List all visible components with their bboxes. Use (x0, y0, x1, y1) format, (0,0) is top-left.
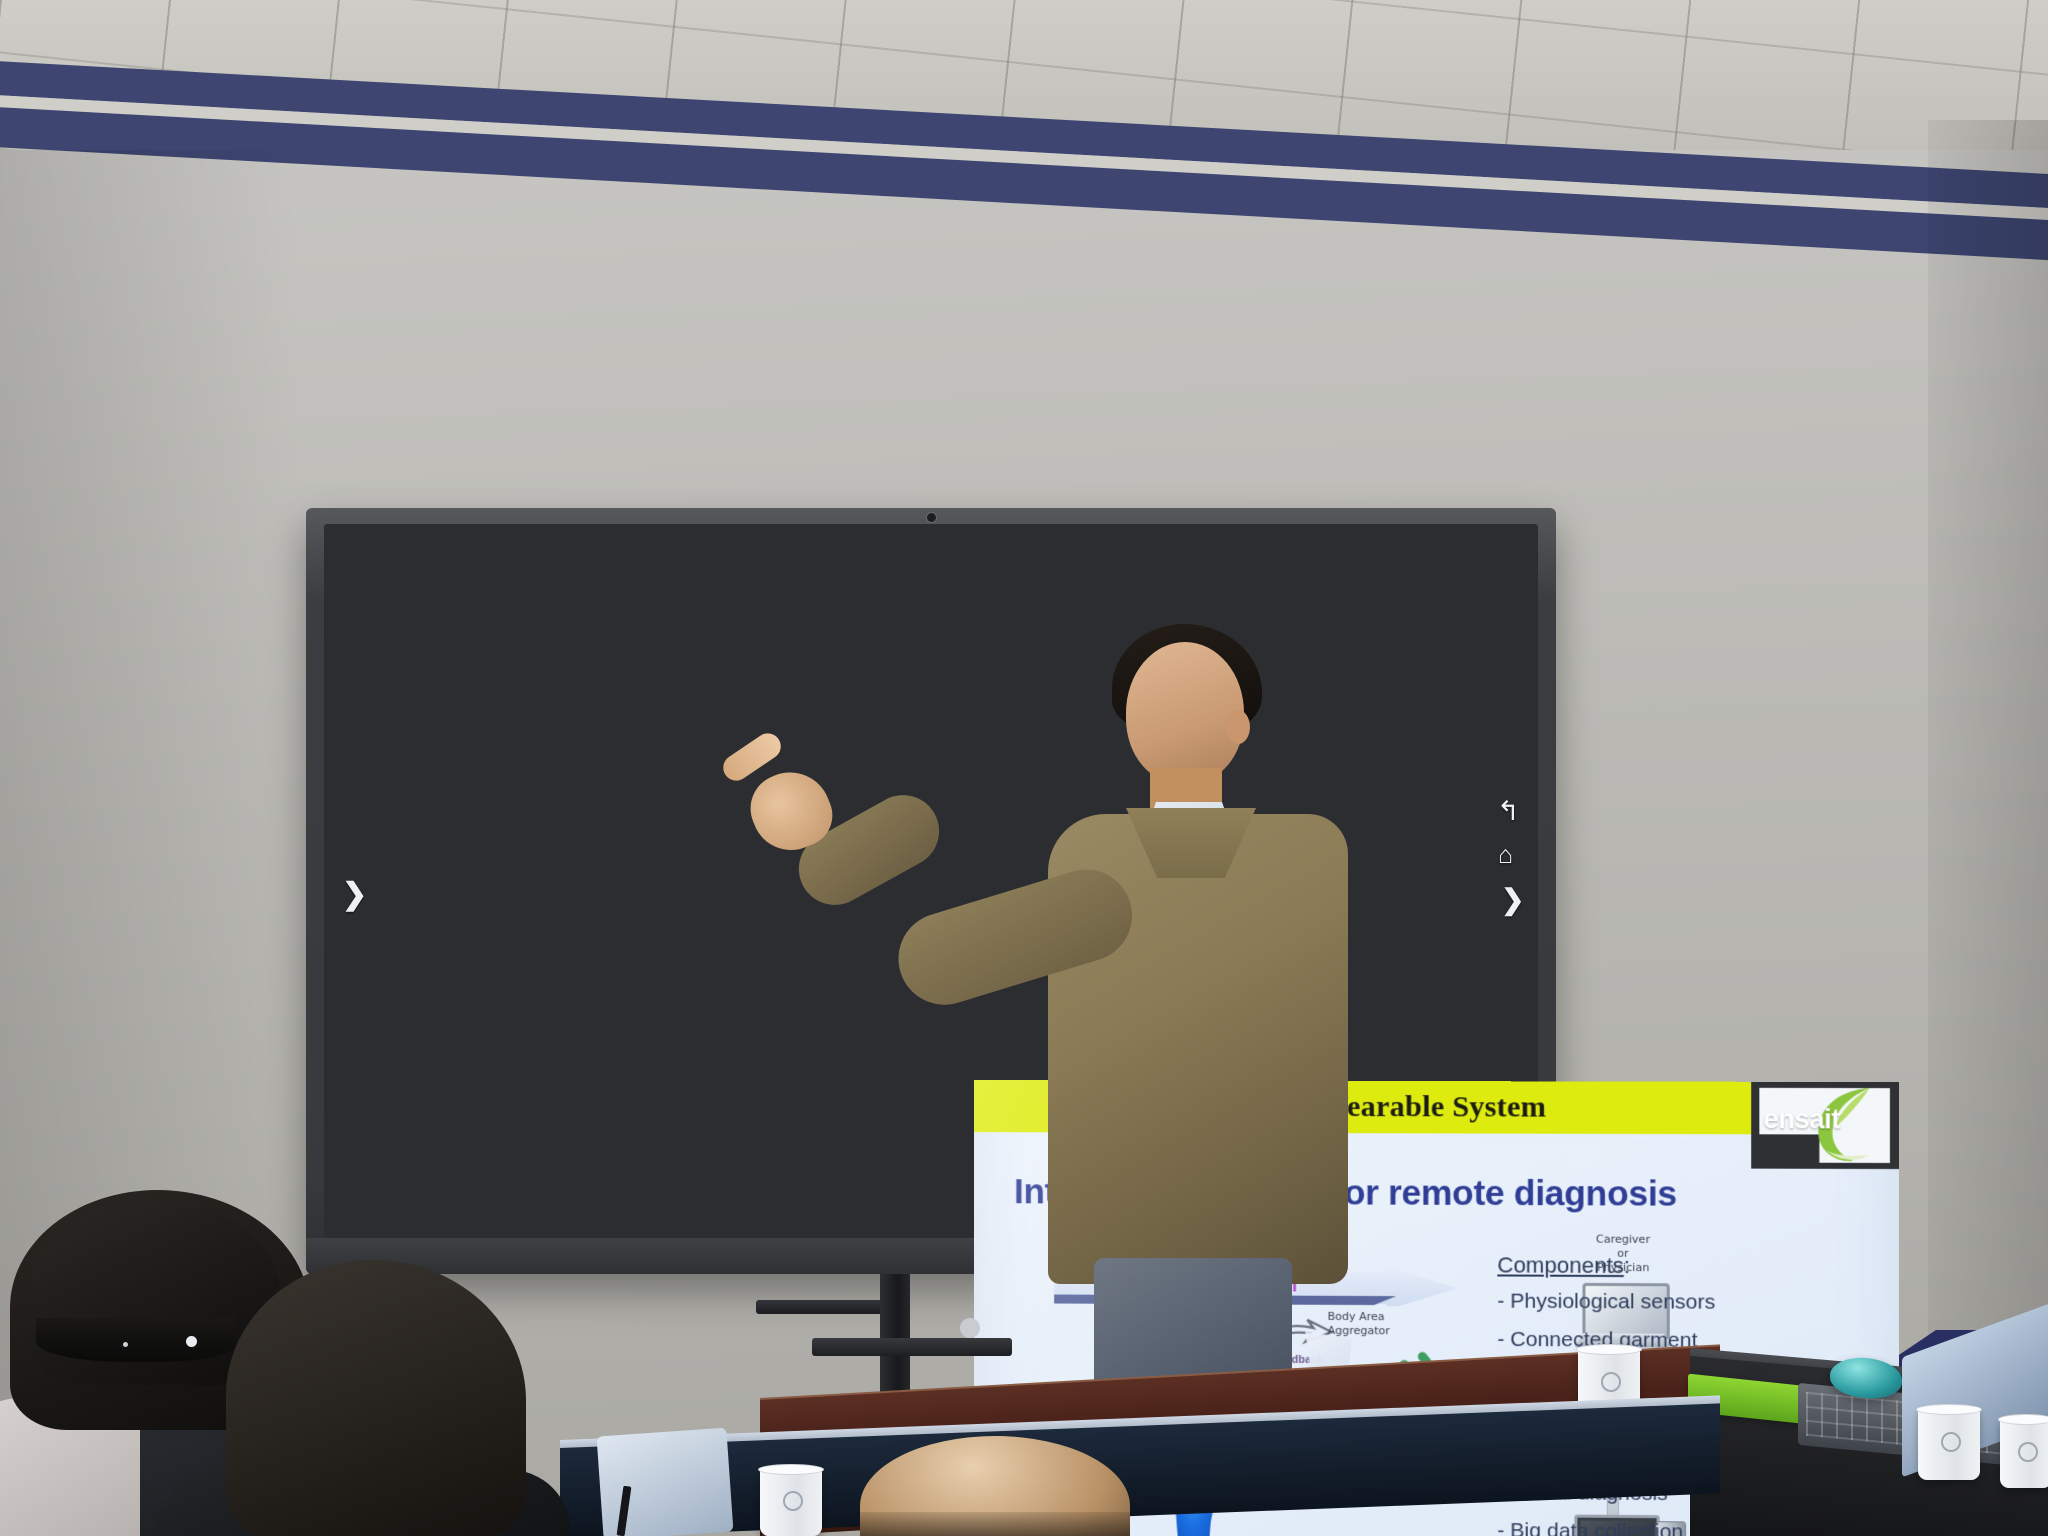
components-heading: Components: (1497, 1254, 1832, 1278)
display-next-icon-left[interactable]: ❯ (342, 880, 367, 910)
ensait-logo: ensait (1751, 1082, 1899, 1169)
display-back-icon[interactable]: ↰ (1497, 798, 1520, 825)
display-camera-icon (927, 513, 936, 522)
components-heading-colon: : (1624, 1253, 1630, 1278)
paper-cup (1918, 1408, 1980, 1480)
presenter-head (1126, 642, 1244, 784)
components-heading-text: Components (1497, 1252, 1623, 1278)
tv-stand-upper-arm (756, 1300, 886, 1314)
display-home-icon[interactable]: ⌂ (1498, 843, 1513, 868)
presenter (1030, 618, 1360, 1418)
screenshot-root: Intelligent Wearable System ensait Intel… (0, 0, 2048, 1536)
audience-member-3-hair (860, 1512, 1130, 1536)
wall-right-edge (1928, 120, 2048, 1420)
list-item: - Physiological sensors (1497, 1291, 1832, 1314)
tv-stand-knob (960, 1318, 980, 1338)
paper-cup (760, 1468, 822, 1536)
tablet-on-desk[interactable] (597, 1428, 734, 1536)
display-next-icon-right[interactable]: ❯ (1501, 886, 1524, 914)
cap-eyelet-icon (186, 1336, 197, 1347)
paper-cup (2000, 1418, 2048, 1488)
logo-text: ensait (1763, 1104, 1840, 1136)
cap-brim (36, 1318, 236, 1362)
audience-member-2-head (226, 1260, 526, 1536)
tv-stand-arm (812, 1338, 1012, 1356)
presenter-ear (1226, 710, 1250, 744)
